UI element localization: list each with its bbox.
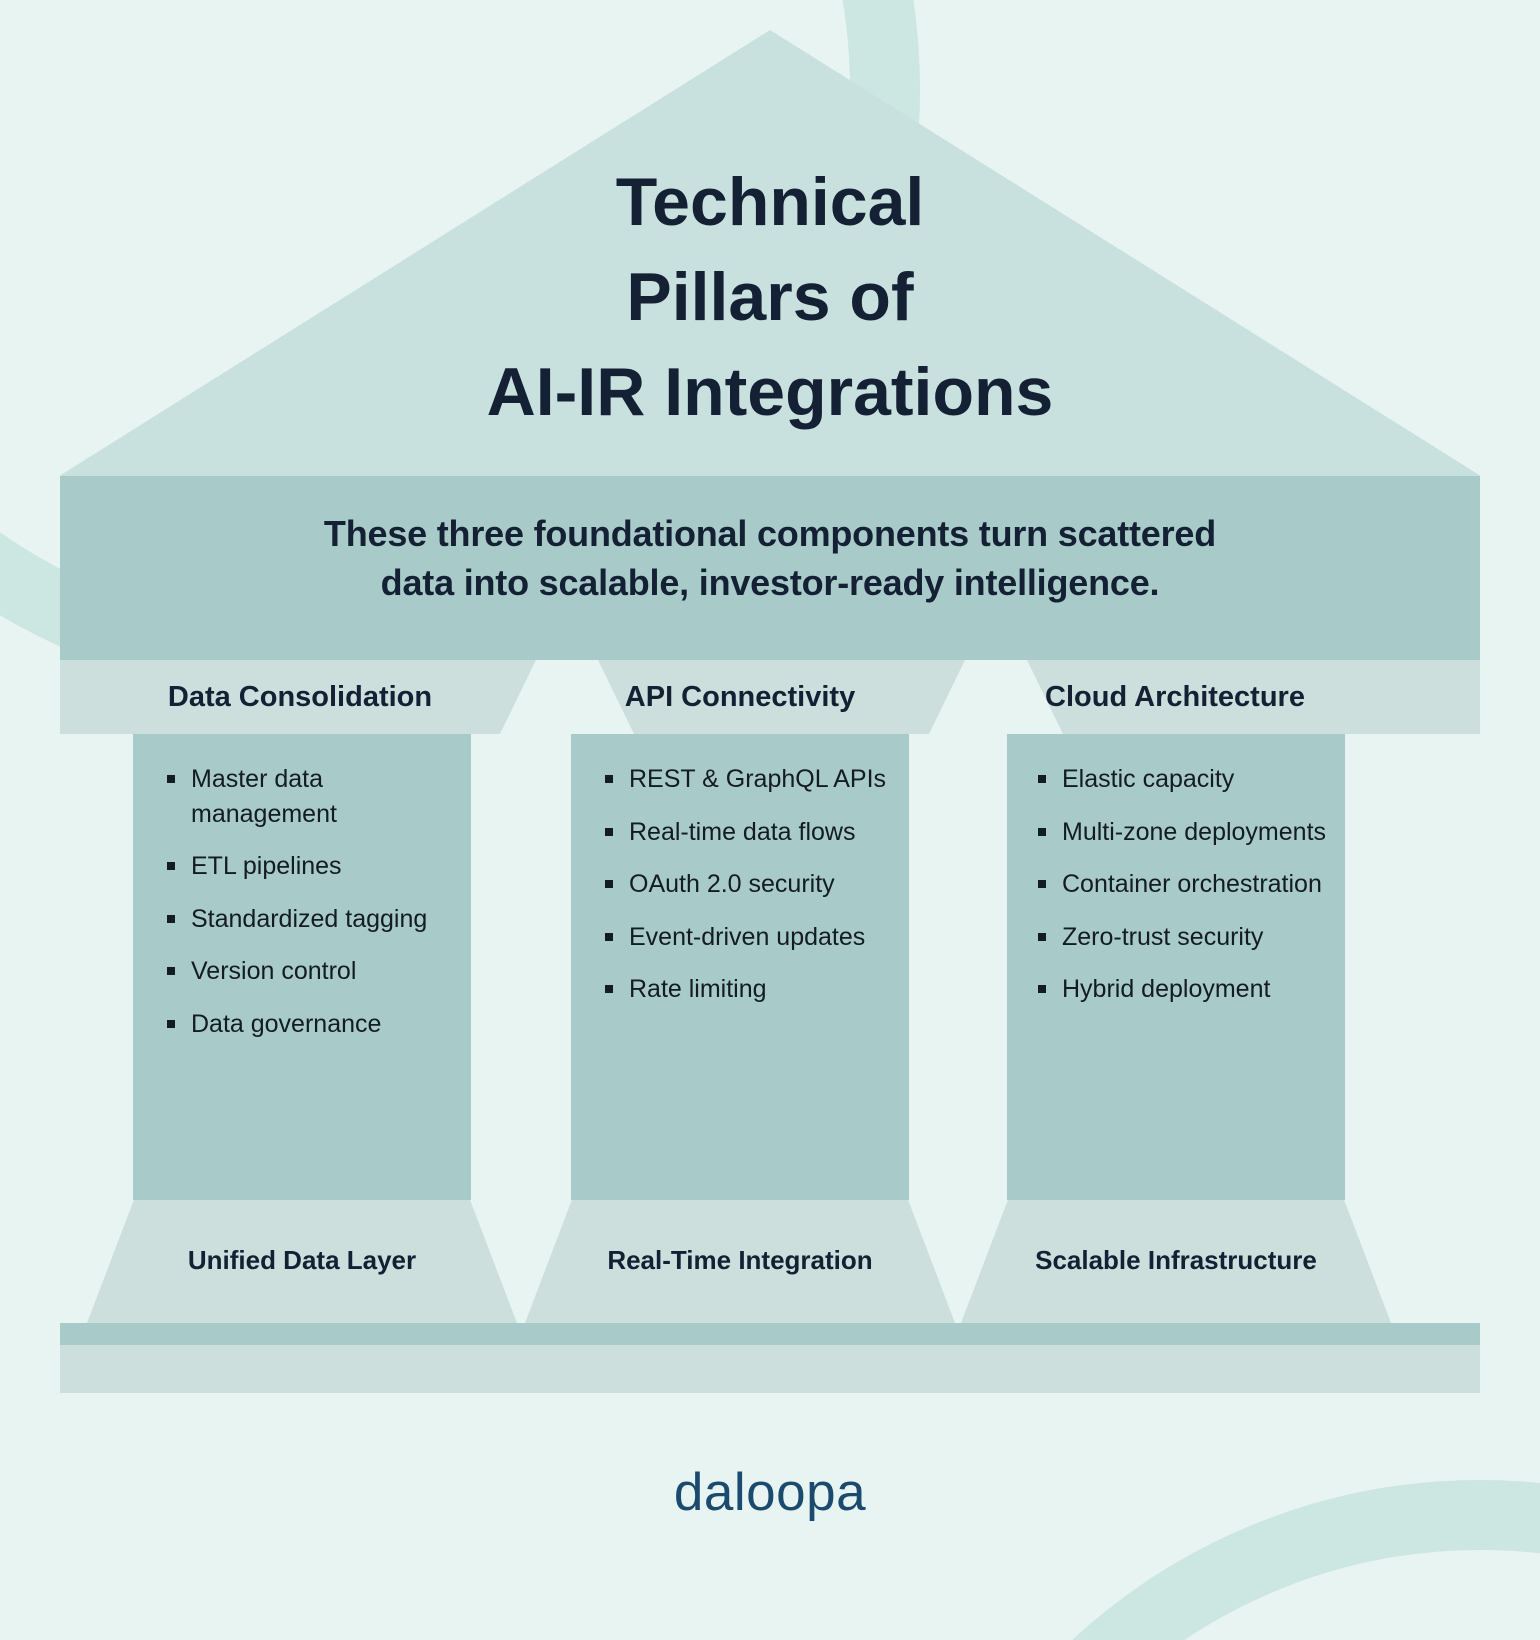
list-item: Data governance bbox=[165, 1007, 465, 1042]
title-line-2: Pillars of bbox=[626, 259, 914, 335]
column-heading-data-consolidation: Data Consolidation bbox=[110, 673, 490, 721]
base-label-scalable-infrastructure: Scalable Infrastructure bbox=[961, 1245, 1391, 1276]
bullet-list-data-consolidation: Master data management ETL pipelines Sta… bbox=[165, 762, 465, 1059]
subtitle-block: These three foundational components turn… bbox=[60, 510, 1480, 607]
list-item: ETL pipelines bbox=[165, 849, 465, 884]
list-item: Rate limiting bbox=[603, 972, 903, 1007]
list-item: Standardized tagging bbox=[165, 902, 465, 937]
plinth-upper-band bbox=[60, 1323, 1480, 1345]
subtitle-line-1: These three foundational components turn… bbox=[60, 510, 1480, 559]
list-item: Hybrid deployment bbox=[1036, 972, 1336, 1007]
subtitle-line-2: data into scalable, investor-ready intel… bbox=[60, 559, 1480, 608]
list-item: Zero-trust security bbox=[1036, 920, 1336, 955]
title-line-1: Technical bbox=[616, 164, 925, 240]
bullet-list-cloud-architecture: Elastic capacity Multi-zone deployments … bbox=[1036, 762, 1336, 1025]
base-label-real-time-integration: Real-Time Integration bbox=[525, 1245, 955, 1276]
list-item: Elastic capacity bbox=[1036, 762, 1336, 797]
list-item: REST & GraphQL APIs bbox=[603, 762, 903, 797]
list-item: OAuth 2.0 security bbox=[603, 867, 903, 902]
list-item: Container orchestration bbox=[1036, 867, 1336, 902]
title-line-3: AI-IR Integrations bbox=[487, 354, 1054, 430]
page-title: Technical Pillars of AI-IR Integrations bbox=[0, 155, 1540, 455]
list-item: Multi-zone deployments bbox=[1036, 815, 1336, 850]
infographic-canvas: Technical Pillars of AI-IR Integrations … bbox=[0, 0, 1540, 1640]
bullet-list-api-connectivity: REST & GraphQL APIs Real-time data flows… bbox=[603, 762, 903, 1025]
list-item: Version control bbox=[165, 954, 465, 989]
temple-graphic: Technical Pillars of AI-IR Integrations … bbox=[0, 0, 1540, 1400]
list-item: Master data management bbox=[165, 762, 465, 831]
daloopa-logo: daloopa bbox=[0, 1462, 1540, 1523]
base-label-unified-data-layer: Unified Data Layer bbox=[87, 1245, 517, 1276]
list-item: Event-driven updates bbox=[603, 920, 903, 955]
list-item: Real-time data flows bbox=[603, 815, 903, 850]
column-heading-api-connectivity: API Connectivity bbox=[550, 673, 930, 721]
architrave-band: These three foundational components turn… bbox=[60, 476, 1480, 660]
plinth-lower-slab bbox=[60, 1345, 1480, 1393]
column-heading-cloud-architecture: Cloud Architecture bbox=[985, 673, 1365, 721]
